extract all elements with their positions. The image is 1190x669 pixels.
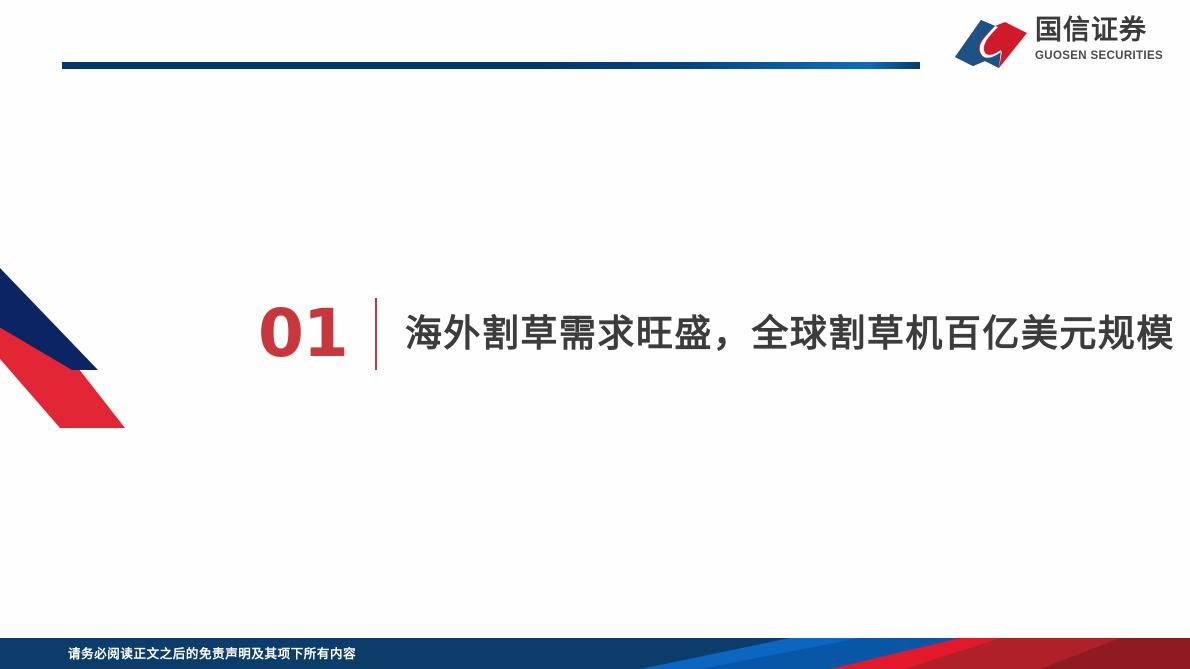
section-title-row: 01 海外割草需求旺盛，全球割草机百亿美元规模 [258,288,1175,380]
company-logo: 国信证券 GUOSEN SECURITIES [955,14,1150,76]
logo-text-block: 国信证券 GUOSEN SECURITIES [1035,14,1153,64]
page-title: 海外割草需求旺盛，全球割草机百亿美元规模 [405,314,1175,355]
title-divider [375,298,377,370]
decorative-chevrons [0,250,200,450]
slide-canvas: 国信证券 GUOSEN SECURITIES 01 海外割草需求旺盛，全球割草机… [0,0,1190,669]
header-rule [62,62,920,69]
guosen-logo-mark-icon [955,16,1027,70]
logo-name-cn: 国信证券 [1035,14,1153,48]
section-number: 01 [258,301,348,367]
footer-bar: 请务必阅读正文之后的免责声明及其项下所有内容 [0,638,1190,669]
logo-name-en: GUOSEN SECURITIES [1035,48,1153,64]
footer-disclaimer: 请务必阅读正文之后的免责声明及其项下所有内容 [68,638,356,669]
